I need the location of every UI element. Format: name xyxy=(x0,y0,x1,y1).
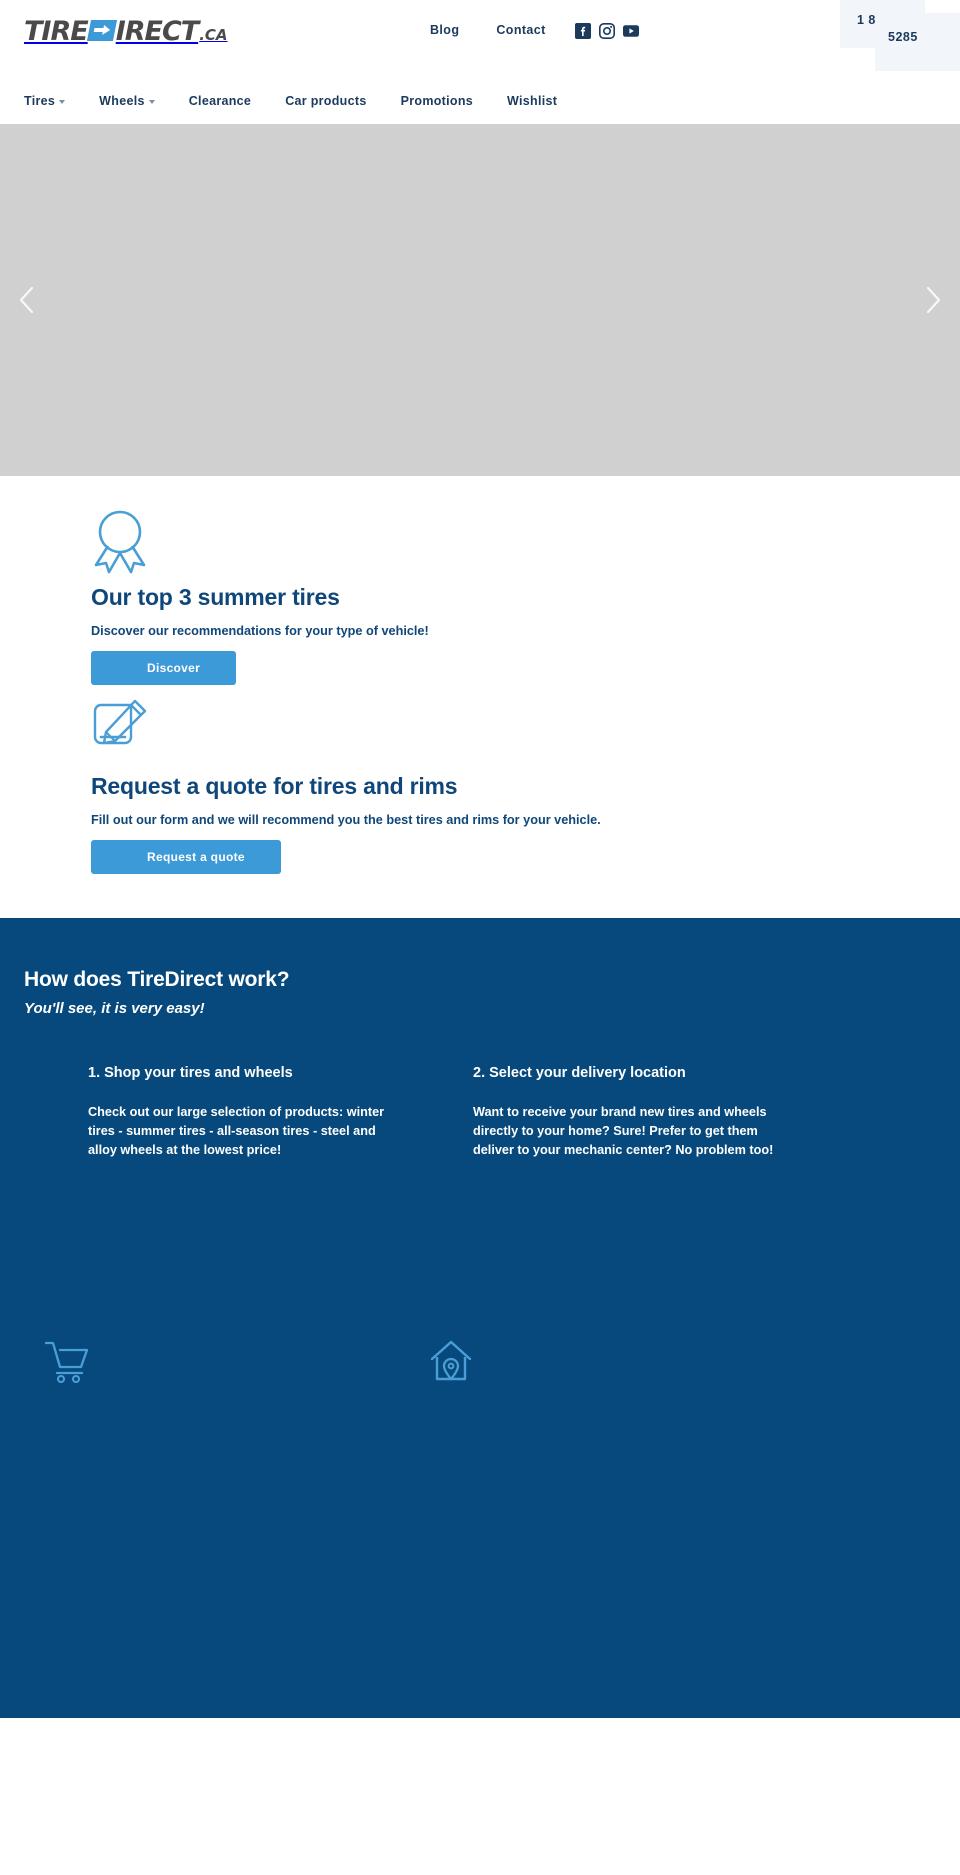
promo-title: Our top 3 summer tires xyxy=(91,584,936,611)
nav-item-label: Clearance xyxy=(189,94,251,108)
step-title: 1. Shop your tires and wheels xyxy=(88,1065,393,1081)
nav-item-clearance[interactable]: Clearance xyxy=(189,94,251,108)
top-links: Blog Contact xyxy=(430,23,546,37)
nav-item-label: Wheels xyxy=(99,94,145,108)
pencil-form-icon xyxy=(91,699,936,765)
nav-item-label: Wishlist xyxy=(507,94,557,108)
hero-carousel xyxy=(0,124,960,476)
main-navigation: Tires Wheels Clearance Car products Prom… xyxy=(0,77,960,124)
step-item: 1. Shop your tires and wheels Check out … xyxy=(88,1065,393,1159)
award-ribbon-icon xyxy=(91,508,936,576)
phone-number-line2: 5285 xyxy=(888,30,918,44)
phone-number-line1: 1 8 xyxy=(857,13,876,27)
promo-card-request-quote: Request a quote for tires and rims Fill … xyxy=(0,699,960,874)
nav-item-label: Promotions xyxy=(401,94,473,108)
step-text: Want to receive your brand new tires and… xyxy=(473,1103,778,1159)
logo-text-suffix: .CA xyxy=(199,26,227,44)
discover-button[interactable]: Discover xyxy=(91,651,236,685)
shopping-cart-icon xyxy=(44,1339,427,1385)
step-icons xyxy=(24,1339,936,1385)
step-text: Check out our large selection of product… xyxy=(88,1103,393,1159)
top-bar: TIRE IRECT .CA Blog Contact xyxy=(0,0,960,77)
promo-subtitle: Discover our recommendations for your ty… xyxy=(91,624,936,638)
logo-text-part1: TIRE xyxy=(24,18,88,45)
arrow-right-icon xyxy=(87,20,117,41)
nav-item-car-products[interactable]: Car products xyxy=(285,94,366,108)
step-title: 2. Select your delivery location xyxy=(473,1065,778,1081)
chevron-down-icon xyxy=(149,100,155,104)
how-it-works-subtitle: You'll see, it is very easy! xyxy=(24,1000,936,1017)
carousel-prev-arrow-icon[interactable] xyxy=(12,280,42,320)
top-link-blog[interactable]: Blog xyxy=(430,23,459,37)
instagram-icon[interactable] xyxy=(599,23,615,39)
step-item: 2. Select your delivery location Want to… xyxy=(473,1065,778,1159)
nav-item-label: Tires xyxy=(24,94,55,108)
social-links xyxy=(575,23,639,39)
home-location-icon xyxy=(427,1339,810,1385)
request-quote-button[interactable]: Request a quote xyxy=(91,840,281,874)
nav-item-wheels[interactable]: Wheels xyxy=(99,94,155,108)
how-it-works-title: How does TireDirect work? xyxy=(24,968,936,992)
carousel-next-arrow-icon[interactable] xyxy=(918,280,948,320)
promo-title: Request a quote for tires and rims xyxy=(91,773,936,800)
phone-widget[interactable]: 1 8 5285 xyxy=(830,0,960,75)
site-logo[interactable]: TIRE IRECT .CA xyxy=(24,18,228,45)
top-link-contact[interactable]: Contact xyxy=(496,23,545,37)
facebook-icon[interactable] xyxy=(575,23,591,39)
nav-item-label: Car products xyxy=(285,94,366,108)
steps-list: 1. Shop your tires and wheels Check out … xyxy=(24,1065,936,1159)
chevron-down-icon xyxy=(59,100,65,104)
promo-section: Our top 3 summer tires Discover our reco… xyxy=(0,476,960,918)
nav-item-tires[interactable]: Tires xyxy=(24,94,65,108)
promo-subtitle: Fill out our form and we will recommend … xyxy=(91,813,936,827)
promo-card-top-tires: Our top 3 summer tires Discover our reco… xyxy=(0,508,960,685)
youtube-icon[interactable] xyxy=(623,23,639,39)
nav-item-promotions[interactable]: Promotions xyxy=(401,94,473,108)
logo-text-part2: IRECT xyxy=(116,18,199,45)
nav-item-wishlist[interactable]: Wishlist xyxy=(507,94,557,108)
how-it-works-section: How does TireDirect work? You'll see, it… xyxy=(0,918,960,1718)
